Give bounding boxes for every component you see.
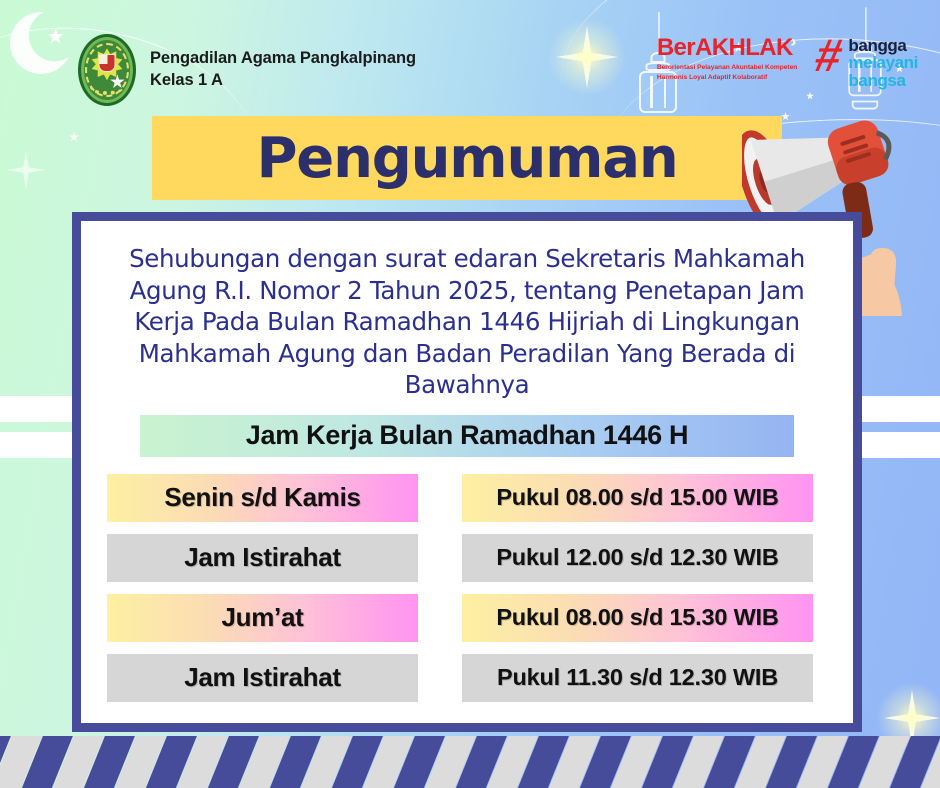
schedule-day-cell: Jam Istirahat — [107, 654, 418, 702]
stripe — [16, 736, 78, 788]
stripe — [295, 736, 357, 788]
working-hours-subtitle: Jam Kerja Bulan Ramadhan 1446 H — [246, 420, 688, 451]
schedule-time-cell: Pukul 08.00 s/d 15.30 WIB — [462, 594, 813, 642]
schedule-time-cell: Pukul 08.00 s/d 15.00 WIB — [462, 474, 813, 522]
announcement-title-banner: Pengumuman — [152, 116, 782, 200]
stripe — [543, 736, 605, 788]
stripe — [822, 736, 884, 788]
working-hours-table: Senin s/d KamisPukul 08.00 s/d 15.00 WIB… — [107, 474, 827, 702]
glow-icon — [876, 682, 940, 754]
stripe — [109, 736, 171, 788]
bangga-melayani-bangsa: bangga melayani bangsa — [848, 37, 918, 89]
schedule-day-cell: Jam Istirahat — [107, 534, 418, 582]
stripe — [171, 736, 233, 788]
announcement-body-text: Sehubungan dengan surat edaran Sekretari… — [107, 243, 827, 401]
star-icon — [69, 132, 79, 142]
stripe — [853, 736, 915, 788]
berakhlak-logo: BerAKHLAK› Berorientasi Pelayanan Akunta… — [657, 36, 918, 89]
page-title: Pengumuman — [256, 126, 677, 191]
hashtag-icon: # — [812, 38, 845, 74]
star-icon — [806, 92, 814, 100]
schedule-row: Senin s/d KamisPukul 08.00 s/d 15.00 WIB — [107, 474, 827, 522]
announcement-card: Sehubungan dengan surat edaran Sekretari… — [72, 212, 862, 732]
schedule-time-cell: Pukul 11.30 s/d 12.30 WIB — [462, 654, 813, 702]
stripe — [388, 736, 450, 788]
stripe — [450, 736, 512, 788]
crescent-star-icon — [47, 28, 64, 45]
working-hours-subtitle-banner: Jam Kerja Bulan Ramadhan 1446 H — [140, 415, 794, 457]
institution-name: Pengadilan Agama Pangkalpinang Kelas 1 A — [150, 48, 416, 92]
sparkle-icon — [884, 690, 940, 746]
bottom-stripe-band — [0, 736, 940, 788]
sparkle-icon — [556, 26, 618, 88]
stripe — [0, 736, 47, 788]
stripe — [729, 736, 791, 788]
stripe — [47, 736, 109, 788]
schedule-day-cell: Jum’at — [107, 594, 418, 642]
tagline-line-2: melayani — [848, 54, 918, 71]
schedule-day-cell: Senin s/d Kamis — [107, 474, 418, 522]
stripe — [791, 736, 853, 788]
crescent-moon-icon — [10, 12, 72, 74]
stripe — [0, 736, 16, 788]
stripe — [760, 736, 822, 788]
schedule-row: Jum’atPukul 08.00 s/d 15.30 WIB — [107, 594, 827, 642]
stripe — [667, 736, 729, 788]
sparkle-icon — [6, 150, 46, 190]
stripe — [140, 736, 202, 788]
tagline-line-3: bangsa — [848, 72, 918, 89]
schedule-row: Jam IstirahatPukul 11.30 s/d 12.30 WIB — [107, 654, 827, 702]
stripe — [915, 736, 940, 788]
stripe — [605, 736, 667, 788]
tagline-line-1: bangga — [848, 37, 918, 54]
schedule-row: Jam IstirahatPukul 12.00 s/d 12.30 WIB — [107, 534, 827, 582]
stripe — [202, 736, 264, 788]
berakhlak-tagline: Berorientasi Pelayanan Akuntabel Kompete… — [657, 63, 809, 82]
stripe — [419, 736, 481, 788]
institution-name-line2: Kelas 1 A — [150, 70, 416, 92]
stripe — [636, 736, 698, 788]
stripe — [481, 736, 543, 788]
stripe — [512, 736, 574, 788]
stripe — [264, 736, 326, 788]
institution-name-line1: Pengadilan Agama Pangkalpinang — [150, 48, 416, 70]
glow-icon — [548, 18, 626, 96]
stripe — [78, 736, 140, 788]
stripe — [326, 736, 388, 788]
stripe — [884, 736, 940, 788]
stripe — [233, 736, 295, 788]
stripe — [698, 736, 760, 788]
schedule-time-cell: Pukul 12.00 s/d 12.30 WIB — [462, 534, 813, 582]
court-seal-icon — [78, 34, 136, 106]
berakhlak-wordmark: BerAKHLAK› — [657, 36, 809, 60]
stripe — [357, 736, 419, 788]
institution-header: Pengadilan Agama Pangkalpinang Kelas 1 A — [78, 34, 416, 106]
stripe — [574, 736, 636, 788]
